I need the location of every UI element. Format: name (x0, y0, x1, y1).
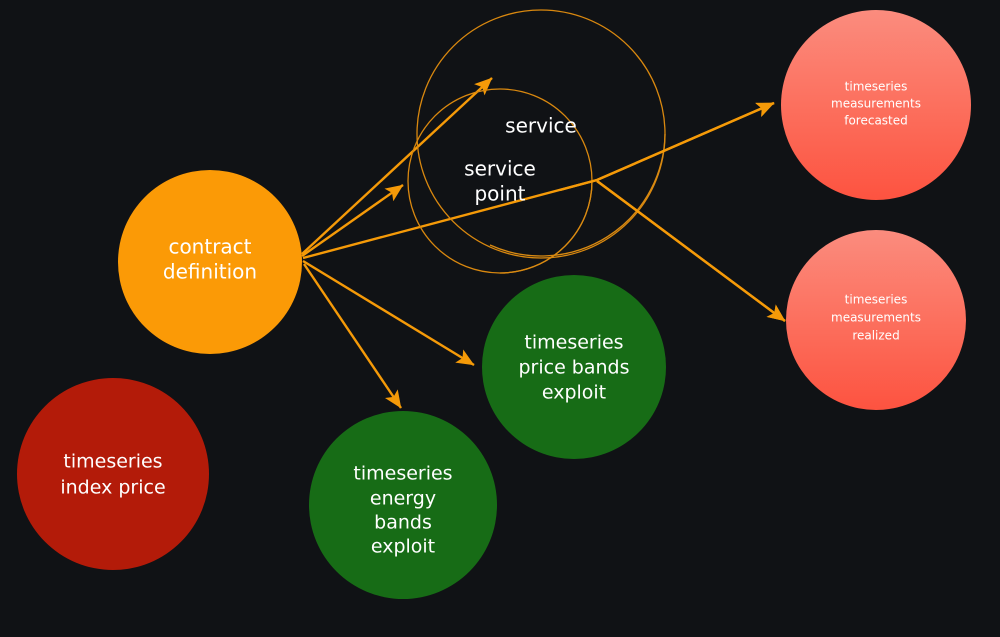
label-service-point: service point (464, 157, 536, 206)
label-energy-bands-line-0: timeseries (353, 463, 452, 485)
label-contract-definition-line-0: contract (168, 235, 251, 259)
label-index-price-line-1: index price (60, 477, 165, 499)
label-service-hidden: service (505, 114, 577, 138)
graph-canvas: service service point timeseries measure… (0, 0, 1000, 637)
label-forecasted-line-2: forecasted (844, 114, 908, 128)
label-energy-bands-line-1: energy (370, 488, 436, 510)
edge-contract-to-price-bands-exploit[interactable] (303, 261, 474, 365)
label-contract-definition: contract definition (163, 235, 257, 284)
label-price-bands-line-0: timeseries (524, 332, 623, 354)
label-contract-definition-line-1: definition (163, 260, 257, 284)
label-realized-line-1: measurements (831, 311, 921, 325)
node-timeseries-index-price-circle[interactable] (17, 378, 209, 570)
label-energy-bands-line-2: bands (374, 512, 432, 534)
label-price-bands-line-2: exploit (542, 382, 606, 404)
edge-contract-to-energy-bands-exploit[interactable] (304, 264, 401, 408)
label-service-hidden-line-0: service (505, 114, 577, 138)
label-index-price-line-0: timeseries (63, 451, 162, 473)
label-forecasted-line-0: timeseries (845, 80, 908, 94)
label-price-bands-line-1: price bands (518, 357, 629, 379)
label-service-point-line-1: point (474, 182, 525, 206)
label-energy-bands-line-3: exploit (371, 536, 435, 558)
label-realized-line-0: timeseries (845, 293, 908, 307)
label-service-point-line-0: service (464, 157, 536, 181)
graph-svg: service service point timeseries measure… (0, 0, 1000, 637)
label-forecasted-line-1: measurements (831, 97, 921, 111)
label-realized-line-2: realized (852, 329, 899, 343)
filled-node-layer (17, 10, 971, 599)
outline-node-layer (408, 10, 665, 273)
